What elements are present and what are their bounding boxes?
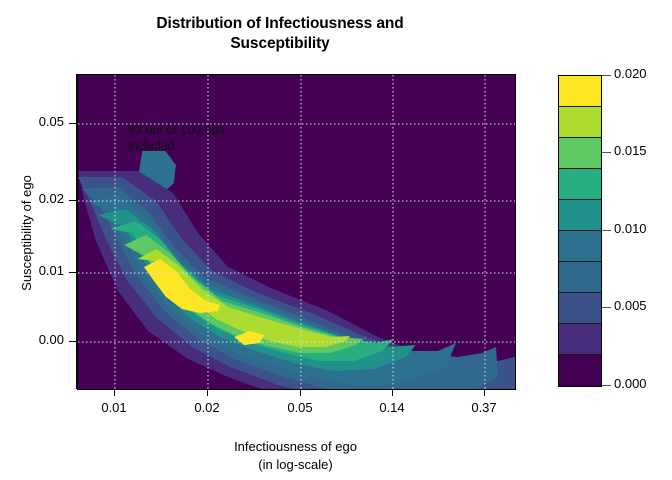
colorbar-band <box>559 262 601 293</box>
y-axis-tick-label: 0.05 <box>0 114 64 129</box>
x-axis-tick <box>484 389 485 396</box>
x-axis-title: Infectiousness of ego (in log-scale) <box>77 438 514 474</box>
colorbar-band <box>559 355 601 386</box>
x-axis-tick-label: 0.14 <box>362 400 422 415</box>
colorbar-band <box>559 324 601 355</box>
x-axis-line <box>77 389 516 390</box>
x-axis-tick <box>300 389 301 396</box>
x-axis-tick-label: 0.02 <box>177 400 237 415</box>
colorbar-band <box>559 138 601 169</box>
colorbar-tick <box>602 307 611 308</box>
colorbar-band <box>559 293 601 324</box>
y-axis-tick <box>69 341 76 342</box>
colorbar-band <box>559 76 601 107</box>
colorbar-band <box>559 200 601 231</box>
colorbar-tick-label: 0.000 <box>614 376 647 391</box>
x-axis-tick <box>207 389 208 396</box>
colorbar-tick <box>602 152 611 153</box>
y-axis-line <box>76 74 77 389</box>
x-axis-title-sub: (in log-scale) <box>77 456 514 474</box>
colorbar-tick-label: 0.010 <box>614 221 647 236</box>
chart-title-line2: Susceptibility <box>40 34 520 54</box>
x-axis-tick-label: 0.01 <box>84 400 144 415</box>
x-axis-title-main: Infectiousness of ego <box>234 439 357 454</box>
chart-title-line1: Distribution of Infectiousness and <box>156 15 403 32</box>
colorbar <box>558 75 602 387</box>
contour-surface <box>78 75 515 389</box>
y-axis-tick-label: 0.02 <box>0 191 64 206</box>
y-axis-tick <box>69 272 76 273</box>
x-axis-tick <box>114 389 115 396</box>
chart-figure: Distribution of Infectiousness and Susce… <box>0 0 672 480</box>
colorbar-tick <box>602 230 611 231</box>
x-axis-tick <box>392 389 393 396</box>
colorbar-band <box>559 107 601 138</box>
y-axis-tick-label: 0.01 <box>0 263 64 278</box>
y-axis-tick-label: 0.00 <box>0 332 64 347</box>
y-axis-title: Susceptibility of ego <box>18 143 36 323</box>
x-axis-tick-label: 0.37 <box>454 400 514 415</box>
colorbar-band <box>559 231 601 262</box>
colorbar-tick <box>602 75 611 76</box>
colorbar-tick-label: 0.015 <box>614 143 647 158</box>
colorbar-band <box>559 169 601 200</box>
colorbar-tick-label: 0.005 <box>614 298 647 313</box>
colorbar-tick <box>602 385 611 386</box>
y-axis-tick <box>69 200 76 201</box>
chart-title: Distribution of Infectiousness and Susce… <box>40 14 520 54</box>
contour-plot-panel <box>77 74 516 390</box>
x-axis-tick-label: 0.05 <box>270 400 330 415</box>
y-axis-tick <box>69 123 76 124</box>
colorbar-tick-label: 0.020 <box>614 66 647 81</box>
